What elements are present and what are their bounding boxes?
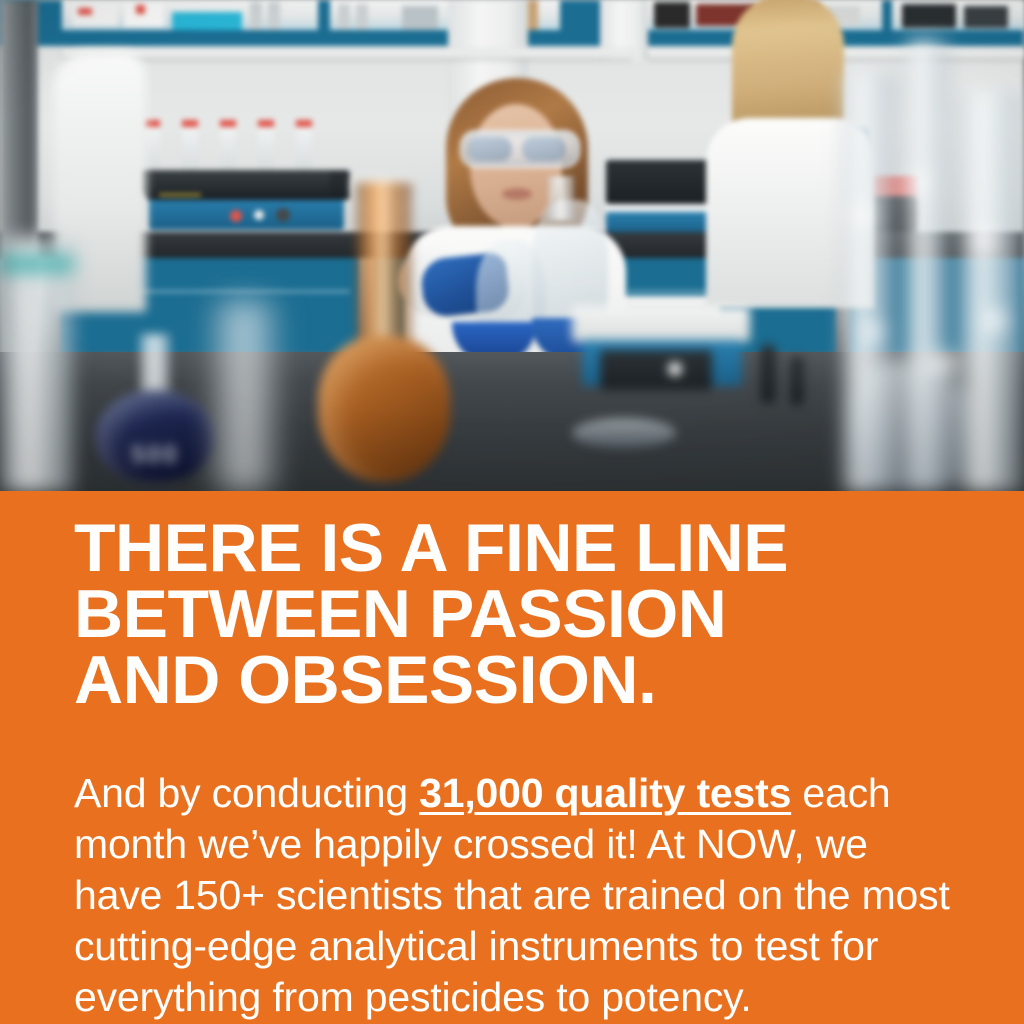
headline-line-1: THERE IS A FINE LINE xyxy=(74,515,974,581)
foreground-cylinder-left xyxy=(0,238,74,491)
lab-photograph: 500 xyxy=(0,0,1024,491)
foreground-amber-flask xyxy=(318,182,450,482)
quality-tests-highlight: 31,000 quality tests xyxy=(419,770,791,816)
flask-volume-label: 500 xyxy=(114,441,196,470)
page-title: THERE IS A FINE LINE BETWEEN PASSION AND… xyxy=(74,515,974,713)
foreground-flask-500ml: 500 xyxy=(96,372,214,482)
headline-line-2: BETWEEN PASSION xyxy=(74,581,974,647)
body-text-part-1: And by conducting xyxy=(74,770,419,816)
orange-text-panel: THERE IS A FINE LINE BETWEEN PASSION AND… xyxy=(0,491,1024,1024)
headline-line-3: AND OBSESSION. xyxy=(74,647,974,713)
body-paragraph: And by conducting 31,000 quality tests e… xyxy=(74,768,954,1023)
promotional-poster: 500 THERE IS A FINE LINE BETWE xyxy=(0,0,1024,1024)
foreground-glassware-right xyxy=(838,24,1024,491)
